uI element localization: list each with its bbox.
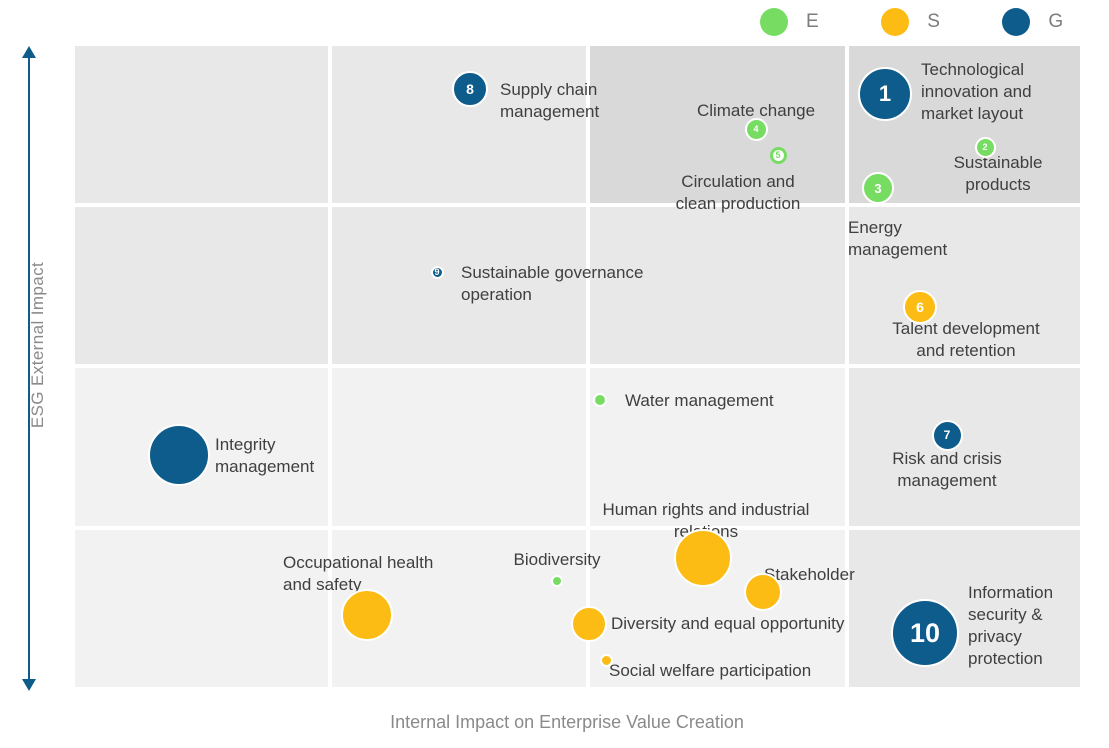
point-technological-innovation-label: Technological innovation and market layo… (921, 59, 1091, 125)
point-diversity-equal-opportunity-label: Diversity and equal opportunity (611, 613, 881, 635)
point-supply-chain-management[interactable]: 8 (452, 71, 488, 107)
point-circulation-clean-production[interactable]: 5 (770, 147, 787, 164)
point-risk-crisis-management[interactable]: 7 (932, 420, 963, 451)
point-talent-development-label: Talent development and retention (876, 318, 1056, 362)
point-integrity-management-label: Integrity management (215, 434, 375, 478)
point-diversity-equal-opportunity[interactable] (571, 606, 607, 642)
point-water-management[interactable] (593, 393, 607, 407)
point-sustainable-products[interactable]: 2 (975, 137, 996, 158)
point-occupational-health-safety[interactable] (341, 589, 393, 641)
point-technological-innovation[interactable]: 1 (858, 67, 912, 121)
esg-materiality-matrix: ESG Technological innovation and market … (0, 0, 1109, 748)
x-axis: Internal Impact on Enterprise Value Crea… (62, 707, 1072, 743)
point-biodiversity[interactable] (551, 575, 563, 587)
y-axis-arrow-down-icon (22, 679, 36, 691)
point-circulation-clean-production-label: Circulation and clean production (647, 171, 829, 215)
point-social-welfare-participation[interactable] (600, 654, 613, 667)
x-axis-label-wrap: Internal Impact on Enterprise Value Crea… (62, 707, 1072, 737)
point-energy-management[interactable]: 3 (862, 172, 894, 204)
point-human-rights-industrial-relations[interactable] (674, 529, 732, 587)
point-water-management-label: Water management (625, 390, 825, 412)
point-sustainable-governance-label: Sustainable governance operation (461, 262, 691, 306)
point-information-security-label: Information security & privacy protectio… (968, 582, 1108, 670)
x-axis-label: Internal Impact on Enterprise Value Crea… (376, 712, 758, 732)
point-energy-management-label: Energy management (848, 217, 1008, 261)
data-points-layer: Technological innovation and market layo… (0, 0, 1109, 748)
point-sustainable-products-label: Sustainable products (907, 152, 1089, 196)
point-talent-development[interactable]: 6 (903, 290, 937, 324)
y-axis-label: ESG External Impact (28, 245, 48, 445)
point-information-security[interactable]: 10 (891, 599, 959, 667)
point-supply-chain-management-label: Supply chain management (500, 79, 670, 123)
point-climate-change[interactable]: 4 (745, 118, 768, 141)
point-occupational-health-safety-label: Occupational health and safety (283, 552, 473, 596)
point-stakeholder[interactable] (744, 573, 782, 611)
point-risk-crisis-management-label: Risk and crisis management (877, 448, 1017, 492)
point-stakeholder-label: Stakeholder (764, 564, 884, 586)
point-integrity-management[interactable] (148, 424, 210, 486)
point-social-welfare-participation-label: Social welfare participation (609, 660, 849, 682)
point-biodiversity-label: Biodiversity (497, 549, 617, 571)
point-sustainable-governance[interactable]: 9 (431, 266, 444, 279)
